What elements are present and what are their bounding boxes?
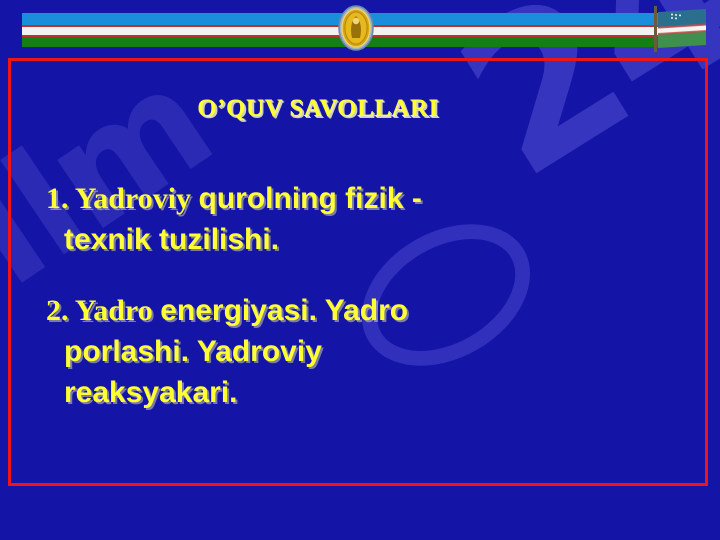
question-1-line-2: texnik tuzilishi. (46, 219, 686, 260)
question-2-line-3: reaksyakari. (46, 372, 686, 413)
question-2-rest: energiyasi. Yadro (160, 294, 408, 327)
question-2-lead: Yadro (75, 294, 153, 327)
question-1-lead: Yadroviy (75, 182, 191, 215)
list-item: 2. Yadro energiyasi. Yadro porlashi. Yad… (46, 290, 686, 413)
question-1-rest: qurolning fizik - (199, 182, 422, 215)
question-1-number: 1. (46, 182, 69, 215)
uzbekistan-gold-emblem-icon (336, 4, 376, 52)
uzbekistan-flag-icon (650, 4, 712, 52)
question-2-line-1: 2. Yadro energiyasi. Yadro (46, 290, 686, 331)
question-2-number: 2. (46, 294, 69, 327)
page-title: O’QUV SAVOLLARI (8, 95, 628, 123)
slide-canvas: 24 Ilm (0, 0, 720, 540)
question-list: 1. Yadroviy qurolning fizik - texnik tuz… (46, 178, 686, 443)
list-item: 1. Yadroviy qurolning fizik - texnik tuz… (46, 178, 686, 260)
question-2-line-2: porlashi. Yadroviy (46, 331, 686, 372)
slide-content: O’QUV SAVOLLARI 1. Yadroviy qurolning fi… (8, 58, 708, 486)
question-1-line-1: 1. Yadroviy qurolning fizik - (46, 178, 686, 219)
